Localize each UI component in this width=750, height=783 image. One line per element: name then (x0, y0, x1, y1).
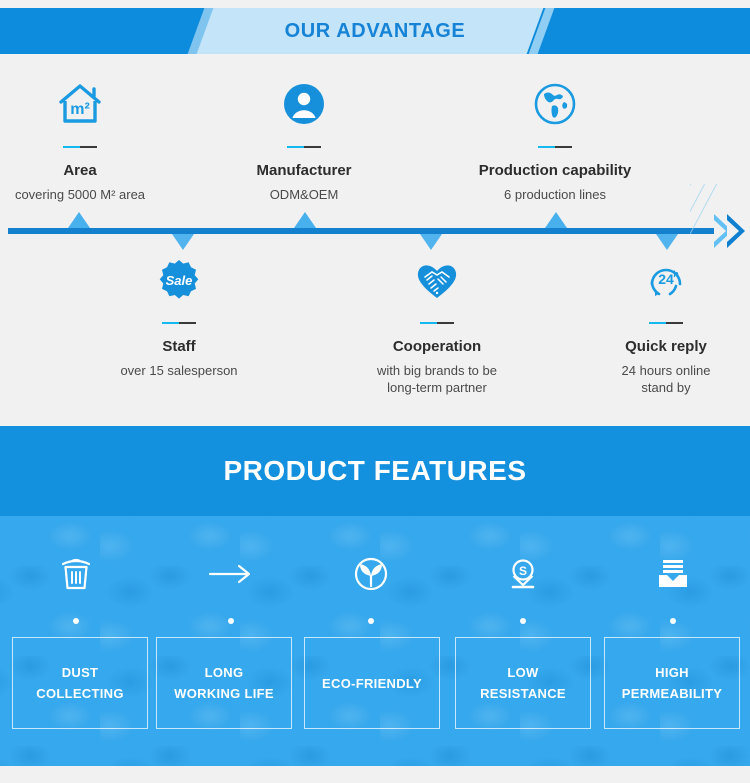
svg-text:m²: m² (70, 101, 90, 118)
item-divider (63, 146, 97, 148)
advantage-banner-title: OUR ADVANTAGE (0, 8, 750, 54)
trash-bin-icon (1, 550, 151, 598)
eco-leaf-circle-icon (296, 550, 446, 598)
product-features-body: DUSTCOLLECTING LONGWORKING LIFE (0, 516, 750, 766)
advantage-item-title: Area (4, 162, 156, 179)
house-area-icon: m² (4, 76, 156, 132)
feature-label: HIGHPERMEABILITY (622, 662, 722, 704)
svg-text:h: h (673, 269, 679, 279)
advantage-body: m² Area covering 5000 M² area Manufactur… (0, 54, 750, 426)
feature-cell-low-resistance: S (448, 550, 598, 624)
product-features-title: PRODUCT FEATURES (0, 426, 750, 516)
advantage-banner: OUR ADVANTAGE (0, 8, 750, 54)
timeline-marker-up-2 (294, 212, 316, 228)
item-divider (649, 322, 683, 324)
feature-label: LONGWORKING LIFE (174, 662, 274, 704)
timeline-arrow-head (714, 214, 750, 248)
advantage-item-desc: with big brands to belong-term partner (361, 362, 513, 396)
feature-box-eco-friendly[interactable]: ECO-FRIENDLY (304, 637, 440, 729)
timeline-marker-down-3 (656, 234, 678, 250)
handshake-heart-icon (361, 252, 513, 308)
svg-text:S: S (519, 564, 527, 578)
advantage-item-desc: over 15 salesperson (103, 362, 255, 379)
advantage-item-desc: 6 production lines (455, 186, 655, 203)
item-divider (162, 322, 196, 324)
feature-label: DUSTCOLLECTING (36, 662, 124, 704)
layers-permeability-icon (598, 550, 748, 598)
feature-dot (228, 618, 234, 624)
feature-label: LOWRESISTANCE (480, 662, 566, 704)
feature-dot (670, 618, 676, 624)
feature-cell-long-working-life (156, 550, 306, 624)
feature-cell-dust-collecting (1, 550, 151, 624)
feature-box-low-resistance[interactable]: LOWRESISTANCE (455, 637, 591, 729)
timeline-bar (8, 228, 720, 234)
resistance-s-icon: S (448, 550, 598, 598)
item-divider (538, 146, 572, 148)
feature-label: ECO-FRIENDLY (322, 673, 422, 694)
advantage-item-desc: 24 hours onlinestand by (590, 362, 742, 396)
advantage-item-title: Cooperation (361, 338, 513, 355)
feature-box-long-working-life[interactable]: LONGWORKING LIFE (156, 637, 292, 729)
advantage-item-cooperation: Cooperation with big brands to belong-te… (361, 252, 513, 396)
item-divider (420, 322, 454, 324)
globe-icon (455, 76, 655, 132)
advantage-item-staff: Sale Staff over 15 salesperson (103, 252, 255, 379)
feature-dot (368, 618, 374, 624)
sale-badge-icon: Sale (103, 252, 255, 308)
svg-text:24: 24 (658, 271, 674, 287)
long-arrow-right-icon (156, 550, 306, 598)
advantage-item-title: Quick reply (590, 338, 742, 355)
advantage-item-production-capability: Production capability 6 production lines (455, 76, 655, 203)
feature-cell-eco-friendly (296, 550, 446, 624)
timeline-marker-down-1 (172, 234, 194, 250)
advantage-item-quick-reply: 24 h Quick reply 24 hours onlinestand by (590, 252, 742, 396)
advantage-item-area: m² Area covering 5000 M² area (4, 76, 156, 203)
feature-box-dust-collecting[interactable]: DUSTCOLLECTING (12, 637, 148, 729)
24h-clock-icon: 24 h (590, 252, 742, 308)
product-features-grid: DUSTCOLLECTING LONGWORKING LIFE (0, 516, 750, 766)
advantage-item-manufacturer: Manufacturer ODM&OEM (228, 76, 380, 203)
feature-box-high-permeability[interactable]: HIGHPERMEABILITY (604, 637, 740, 729)
timeline-marker-up-1 (68, 212, 90, 228)
advantage-item-title: Staff (103, 338, 255, 355)
advantage-item-desc: ODM&OEM (228, 186, 380, 203)
advantage-item-title: Production capability (455, 162, 655, 179)
advantage-item-title: Manufacturer (228, 162, 380, 179)
feature-cell-high-permeability (598, 550, 748, 624)
product-features-header: PRODUCT FEATURES (0, 426, 750, 516)
person-circle-icon (228, 76, 380, 132)
timeline-marker-down-2 (420, 234, 442, 250)
item-divider (287, 146, 321, 148)
page-bottom-strip (0, 766, 750, 783)
feature-dot (73, 618, 79, 624)
timeline-marker-up-3 (545, 212, 567, 228)
svg-text:Sale: Sale (166, 273, 193, 288)
feature-dot (520, 618, 526, 624)
advantage-features-page: OUR ADVANTAGE (0, 0, 750, 783)
advantage-item-desc: covering 5000 M² area (4, 186, 156, 203)
